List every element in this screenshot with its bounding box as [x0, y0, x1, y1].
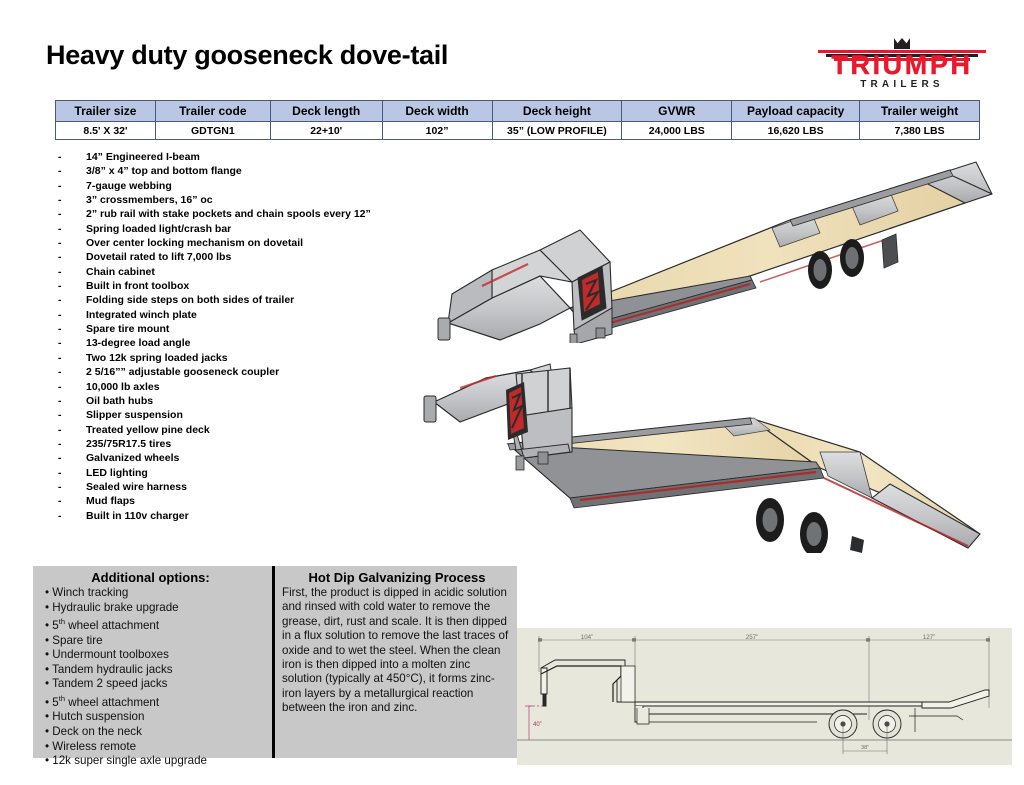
option-item: • 5th wheel attachment — [45, 692, 268, 710]
spec-table-header-row: Trailer size Trailer code Deck length De… — [56, 101, 980, 122]
spec-value-gvwr: 24,000 LBS — [622, 122, 732, 140]
feature-item: LED lighting — [57, 466, 437, 480]
feature-item: Slipper suspension — [57, 408, 437, 422]
feature-item: Oil bath hubs — [57, 394, 437, 408]
trailer-render-dovetail-down — [420, 348, 1000, 553]
spec-value-trailer-weight: 7,380 LBS — [860, 122, 980, 140]
feature-item: 14” Engineered I-beam — [57, 150, 437, 164]
option-item: • Undermount toolboxes — [45, 648, 268, 663]
logo-wordmark: TRIUMPH — [812, 52, 992, 79]
dim-label-neck-length: 104” — [581, 634, 593, 641]
additional-options-block: Additional options: • Winch tracking• Hy… — [33, 570, 268, 769]
feature-item: 7-gauge webbing — [57, 179, 437, 193]
spec-value-payload-capacity: 16,620 LBS — [732, 122, 860, 140]
spec-header-trailer-size: Trailer size — [56, 101, 156, 122]
option-item: • Spare tire — [45, 634, 268, 649]
option-item: • Tandem hydraulic jacks — [45, 663, 268, 678]
feature-item: 13-degree load angle — [57, 336, 437, 350]
option-item: • 5th wheel attachment — [45, 615, 268, 633]
feature-list: 14” Engineered I-beam3/8” x 4” top and b… — [57, 150, 437, 523]
feature-item: 2” rub rail with stake pockets and chain… — [57, 207, 437, 221]
feature-item: Sealed wire harness — [57, 480, 437, 494]
dim-label-dovetail-length: 127” — [923, 634, 935, 641]
spec-header-deck-width: Deck width — [382, 101, 492, 122]
galvanizing-block: Hot Dip Galvanizing Process First, the p… — [282, 570, 512, 716]
spec-header-trailer-weight: Trailer weight — [860, 101, 980, 122]
spec-table: Trailer size Trailer code Deck length De… — [55, 100, 980, 140]
option-item: • Deck on the neck — [45, 725, 268, 740]
feature-item: Dovetail rated to lift 7,000 lbs — [57, 250, 437, 264]
logo-subtext: TRAILERS — [812, 80, 992, 90]
spec-value-deck-height: 35” (LOW PROFILE) — [492, 122, 622, 140]
spec-header-deck-height: Deck height — [492, 101, 622, 122]
feature-item: 3/8” x 4” top and bottom flange — [57, 164, 437, 178]
page-title: Heavy duty gooseneck dove-tail — [46, 40, 448, 71]
feature-item: Over center locking mechanism on dovetai… — [57, 236, 437, 250]
feature-item: Mud flaps — [57, 494, 437, 508]
dimension-lines — [539, 636, 989, 720]
spec-value-deck-length: 22+10' — [270, 122, 382, 140]
spec-header-gvwr: GVWR — [622, 101, 732, 122]
feature-item: Treated yellow pine deck — [57, 423, 437, 437]
feature-item: Spring loaded light/crash bar — [57, 222, 437, 236]
feature-item: Built in 110v charger — [57, 509, 437, 523]
spec-header-trailer-code: Trailer code — [155, 101, 270, 122]
spec-value-trailer-size: 8.5' X 32' — [56, 122, 156, 140]
feature-item: 10,000 lb axles — [57, 380, 437, 394]
triumph-trailers-logo: TRIUMPH TRAILERS — [812, 38, 992, 92]
feature-item: Spare tire mount — [57, 322, 437, 336]
dim-label-axle-spacing: 38” — [861, 745, 869, 751]
additional-options-list: • Winch tracking• Hydraulic brake upgrad… — [33, 586, 268, 769]
feature-item: Two 12k spring loaded jacks — [57, 351, 437, 365]
option-item: • 12k super single axle upgrade — [45, 754, 268, 769]
panel-divider — [272, 566, 275, 758]
feature-item: Integrated winch plate — [57, 308, 437, 322]
spec-table-value-row: 8.5' X 32' GDTGN1 22+10' 102” 35” (LOW P… — [56, 122, 980, 140]
feature-item: 235/75R17.5 tires — [57, 437, 437, 451]
dim-label-deck-height: 40” — [533, 722, 542, 728]
option-item: • Hydraulic brake upgrade — [45, 601, 268, 616]
spec-value-trailer-code: GDTGN1 — [155, 122, 270, 140]
feature-item: Chain cabinet — [57, 265, 437, 279]
trailer-profile — [541, 660, 989, 732]
feature-item: Built in front toolbox — [57, 279, 437, 293]
technical-side-view-drawing: 104” 257” 127” 40” — [517, 628, 1012, 765]
galvanizing-body: First, the product is dipped in acidic s… — [282, 586, 512, 716]
feature-item: Galvanized wheels — [57, 451, 437, 465]
option-item: • Hutch suspension — [45, 710, 268, 725]
option-item: • Winch tracking — [45, 586, 268, 601]
option-item: • Wireless remote — [45, 740, 268, 755]
spec-header-payload-capacity: Payload capacity — [732, 101, 860, 122]
galvanizing-title: Hot Dip Galvanizing Process — [282, 570, 512, 585]
option-item: • Tandem 2 speed jacks — [45, 677, 268, 692]
feature-item: 3” crossmembers, 16” oc — [57, 193, 437, 207]
spec-value-deck-width: 102” — [382, 122, 492, 140]
trailer-render-deck-up — [420, 158, 1000, 343]
feature-item: Folding side steps on both sides of trai… — [57, 293, 437, 307]
dim-label-deck-length: 257” — [746, 634, 758, 641]
crown-icon — [894, 38, 910, 49]
additional-options-title: Additional options: — [33, 570, 268, 585]
feature-item: 2 5/16”” adjustable gooseneck coupler — [57, 365, 437, 379]
brochure-page: Heavy duty gooseneck dove-tail TRIUMPH T… — [0, 0, 1024, 785]
spec-header-deck-length: Deck length — [270, 101, 382, 122]
